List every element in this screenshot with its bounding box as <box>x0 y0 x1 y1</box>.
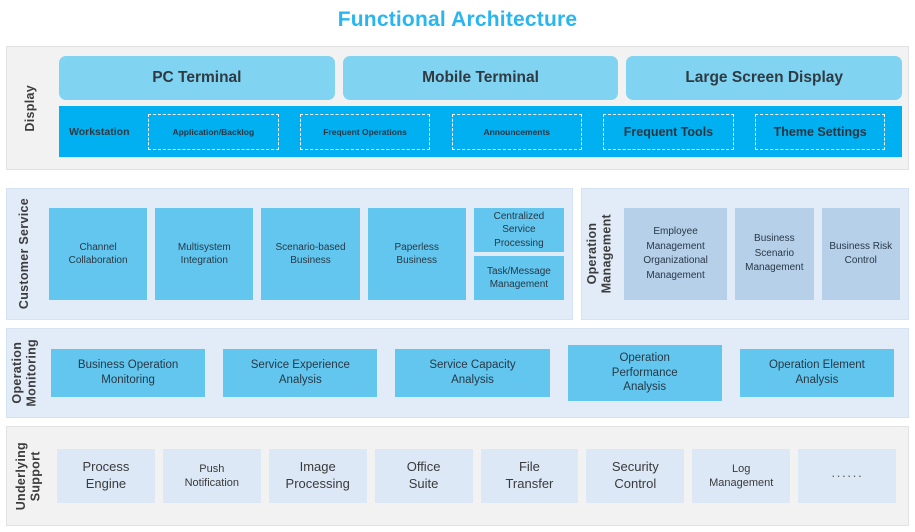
display-layer-content: PC Terminal Mobile Terminal Large Screen… <box>53 47 908 169</box>
service-box-paperless-business[interactable]: PaperlessBusiness <box>368 208 466 300</box>
workstation-cell: Theme Settings <box>744 114 896 150</box>
customer-service-layer: Customer Service ChannelCollaboration Mu… <box>6 188 573 320</box>
support-box-file-transfer[interactable]: FileTransfer <box>481 449 579 503</box>
operation-box-business-scenario-management[interactable]: BusinessScenarioManagement <box>735 208 813 300</box>
monitoring-box-operation-element-analysis[interactable]: Operation ElementAnalysis <box>740 349 894 397</box>
operation-box-employee-organizational-management[interactable]: EmployeeManagementOrganizationalManageme… <box>624 208 727 300</box>
underlying-support-content: ProcessEngine PushNotification ImageProc… <box>49 427 908 525</box>
functional-architecture-diagram: Functional Architecture Display PC Termi… <box>0 0 915 532</box>
underlying-support-layer: UnderlyingSupport ProcessEngine PushNoti… <box>6 426 909 526</box>
service-box-scenario-based-business[interactable]: Scenario-basedBusiness <box>261 208 359 300</box>
monitoring-box-service-capacity-analysis[interactable]: Service CapacityAnalysis <box>395 349 549 397</box>
operation-box-business-risk-control[interactable]: Business RiskControl <box>822 208 900 300</box>
operation-management-content: EmployeeManagementOrganizationalManageme… <box>616 189 908 319</box>
workstation-chip-application-backlog[interactable]: Application/Backlog <box>148 114 278 150</box>
operation-monitoring-layer: OperationMonitoring Business OperationMo… <box>6 328 909 418</box>
support-box-more-ellipsis[interactable]: ······ <box>798 449 896 503</box>
support-box-office-suite[interactable]: OfficeSuite <box>375 449 473 503</box>
service-box-stack: Centralized ServiceProcessing Task/Messa… <box>474 208 564 300</box>
operation-monitoring-label: OperationMonitoring <box>7 329 41 417</box>
support-box-log-management[interactable]: LogManagement <box>692 449 790 503</box>
monitoring-box-operation-performance-analysis[interactable]: OperationPerformanceAnalysis <box>568 345 722 401</box>
operation-management-layer: OperationManagement EmployeeManagementOr… <box>581 188 909 320</box>
workstation-cell: Announcements <box>441 114 593 150</box>
workstation-cell: Application/Backlog <box>137 114 289 150</box>
service-row: Customer Service ChannelCollaboration Mu… <box>6 188 909 320</box>
terminal-row: PC Terminal Mobile Terminal Large Screen… <box>59 56 902 100</box>
workstation-cell: Frequent Tools <box>593 114 745 150</box>
workstation-chip-theme-settings[interactable]: Theme Settings <box>755 114 885 150</box>
support-box-push-notification[interactable]: PushNotification <box>163 449 261 503</box>
display-layer-label: Display <box>7 47 53 169</box>
monitoring-box-business-operation-monitoring[interactable]: Business OperationMonitoring <box>51 349 205 397</box>
workstation-label: Workstation <box>65 126 137 138</box>
underlying-support-label: UnderlyingSupport <box>7 427 49 525</box>
support-box-security-control[interactable]: SecurityControl <box>586 449 684 503</box>
terminal-box-pc[interactable]: PC Terminal <box>59 56 335 100</box>
display-layer: Display PC Terminal Mobile Terminal Larg… <box>6 46 909 170</box>
workstation-chip-frequent-operations[interactable]: Frequent Operations <box>300 114 430 150</box>
workstation-chip-frequent-tools[interactable]: Frequent Tools <box>603 114 733 150</box>
support-box-image-processing[interactable]: ImageProcessing <box>269 449 367 503</box>
terminal-box-large-screen[interactable]: Large Screen Display <box>626 56 902 100</box>
service-box-centralized-service-processing[interactable]: Centralized ServiceProcessing <box>474 208 564 252</box>
service-box-multisystem-integration[interactable]: MultisystemIntegration <box>155 208 253 300</box>
customer-service-label: Customer Service <box>7 189 41 319</box>
service-box-channel-collaboration[interactable]: ChannelCollaboration <box>49 208 147 300</box>
customer-service-content: ChannelCollaboration MultisystemIntegrat… <box>41 189 572 319</box>
terminal-box-mobile[interactable]: Mobile Terminal <box>343 56 619 100</box>
support-box-process-engine[interactable]: ProcessEngine <box>57 449 155 503</box>
operation-management-label: OperationManagement <box>582 189 616 319</box>
monitoring-box-service-experience-analysis[interactable]: Service ExperienceAnalysis <box>223 349 377 397</box>
workstation-cell: Frequent Operations <box>289 114 441 150</box>
page-title: Functional Architecture <box>0 8 915 32</box>
workstation-row: Workstation Application/Backlog Frequent… <box>59 106 902 157</box>
operation-monitoring-content: Business OperationMonitoring Service Exp… <box>41 329 908 417</box>
workstation-chip-announcements[interactable]: Announcements <box>452 114 582 150</box>
service-box-task-message-management[interactable]: Task/MessageManagement <box>474 256 564 300</box>
